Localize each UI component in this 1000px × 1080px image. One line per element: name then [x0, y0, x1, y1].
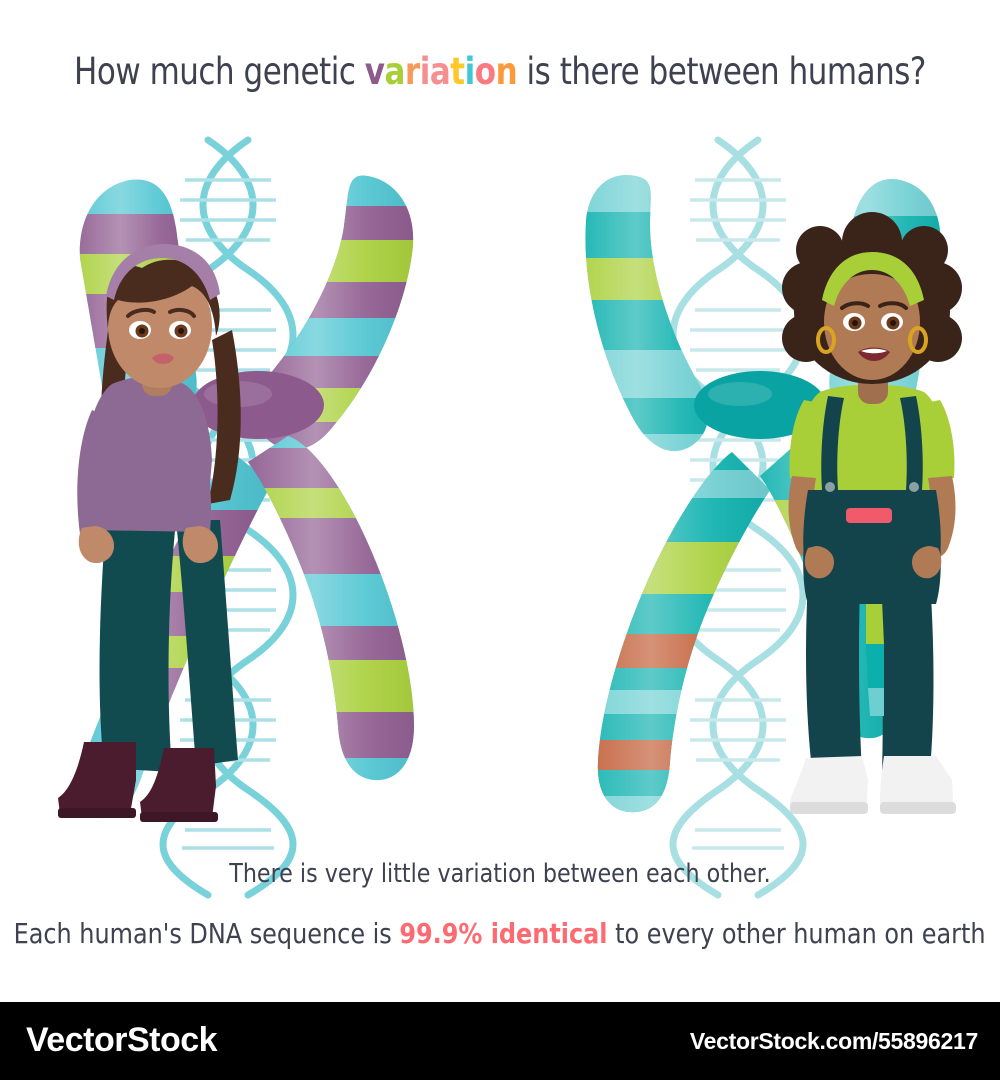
caption-line-2-suffix: to every other human on earth	[608, 917, 986, 950]
centromere-left	[192, 371, 324, 439]
vectorstock-url: VectorStock.com/55896217	[690, 1028, 978, 1055]
left-panel	[58, 140, 450, 895]
caption-line-1-text: There is very little variation between e…	[229, 859, 770, 889]
vectorstock-logo: VectorStock	[26, 1021, 217, 1060]
skirt	[100, 520, 176, 772]
boot-left	[58, 742, 136, 814]
caption-highlight-percentage: 99.9% identical	[400, 917, 608, 950]
right-panel	[560, 140, 970, 895]
caption-line-2-prefix: Each human's DNA sequence is	[14, 917, 400, 950]
caption-line-2: Each human's DNA sequence is 99.9% ident…	[0, 912, 1000, 954]
caption-line-1: There is very little variation between e…	[0, 856, 1000, 892]
chromosome-arm-lower-right	[230, 430, 450, 800]
watermark-bar: VectorStock VectorStock.com/55896217	[0, 1002, 1000, 1080]
illustration-canvas: How much genetic variation is there betw…	[0, 0, 1000, 1080]
overall-patch	[846, 508, 892, 523]
